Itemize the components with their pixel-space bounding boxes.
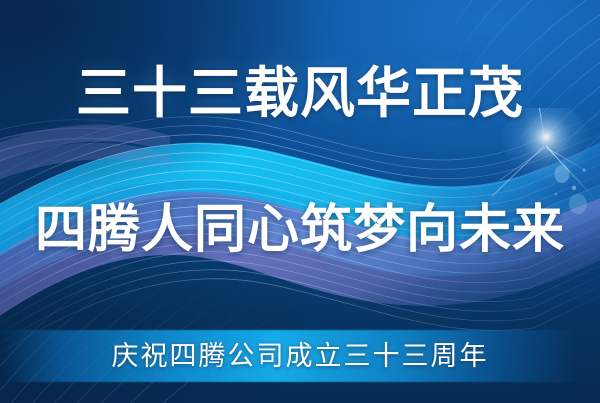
subtitle-text: 庆祝四腾公司成立三十三周年	[0, 337, 600, 375]
headline-line-1: 三十三载风华正茂	[0, 62, 600, 124]
headline-line-2: 四腾人同心筑梦向未来	[0, 200, 600, 260]
anniversary-poster: 三十三载风华正茂 四腾人同心筑梦向未来 庆祝四腾公司成立三十三周年	[0, 0, 600, 403]
